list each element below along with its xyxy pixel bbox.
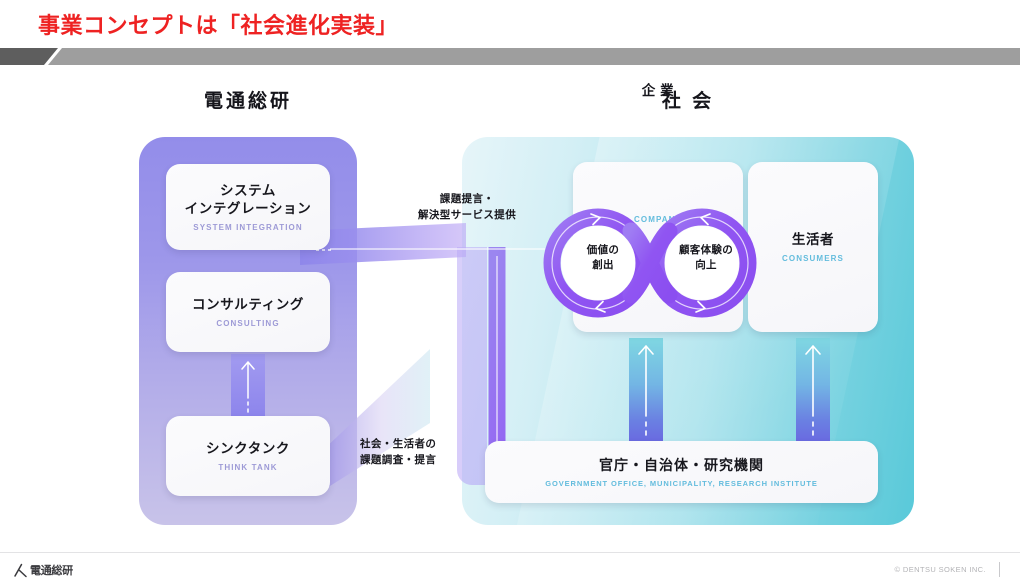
up-arrow-icon <box>796 338 830 448</box>
up-arrow-icon <box>231 354 265 416</box>
card-title: 生活者 <box>792 231 834 249</box>
card-title: システム インテグレーション <box>185 182 312 218</box>
card-think-tank[interactable]: シンクタンク THINK TANK <box>166 416 330 496</box>
card-government[interactable]: 官庁・自治体・研究機関 GOVERNMENT OFFICE, MUNICIPAL… <box>485 441 878 503</box>
card-title: 官庁・自治体・研究機関 <box>599 456 764 475</box>
concept-diagram: 電通総研 社 会 <box>0 66 1020 552</box>
card-title: コンサルティング <box>192 296 304 314</box>
logo-mark-icon <box>13 563 28 578</box>
loop-label-value-creation: 価値の 創出 <box>575 243 631 273</box>
card-subtitle: GOVERNMENT OFFICE, MUNICIPALITY, RESEARC… <box>545 479 817 488</box>
title-divider-rule <box>0 46 1020 65</box>
card-consulting[interactable]: コンサルティング CONSULTING <box>166 272 330 352</box>
footer-tick <box>999 562 1000 577</box>
footer-divider <box>0 552 1020 553</box>
dentsu-soken-logo: 電通総研 <box>13 562 73 578</box>
connector-label-research-proposal: 社会・生活者の 課題調査・提言 <box>360 436 436 469</box>
logo-text: 電通総研 <box>30 562 73 578</box>
loop-label-cx-improvement: 顧客体験の 向上 <box>670 243 742 273</box>
card-subtitle: CONSULTING <box>216 319 279 328</box>
card-subtitle: THINK TANK <box>218 463 277 472</box>
card-system-integration[interactable]: システム インテグレーション SYSTEM INTEGRATION <box>166 164 330 250</box>
card-consumers[interactable]: 生活者 CONSUMERS <box>748 162 878 332</box>
up-arrow-icon <box>629 338 663 448</box>
page-title: 事業コンセプトは「社会進化実装」 <box>38 8 398 40</box>
card-title: 企 業 <box>642 82 675 100</box>
card-subtitle: CONSUMERS <box>782 254 844 263</box>
connector-label-service-provision: 課題提言・ 解決型サービス提供 <box>418 191 516 224</box>
slide-footer: 電通総研 © DENTSU SOKEN INC. <box>0 552 1020 588</box>
card-title: シンクタンク <box>206 440 290 458</box>
copyright-text: © DENTSU SOKEN INC. <box>895 565 986 574</box>
card-subtitle: SYSTEM INTEGRATION <box>193 223 302 232</box>
